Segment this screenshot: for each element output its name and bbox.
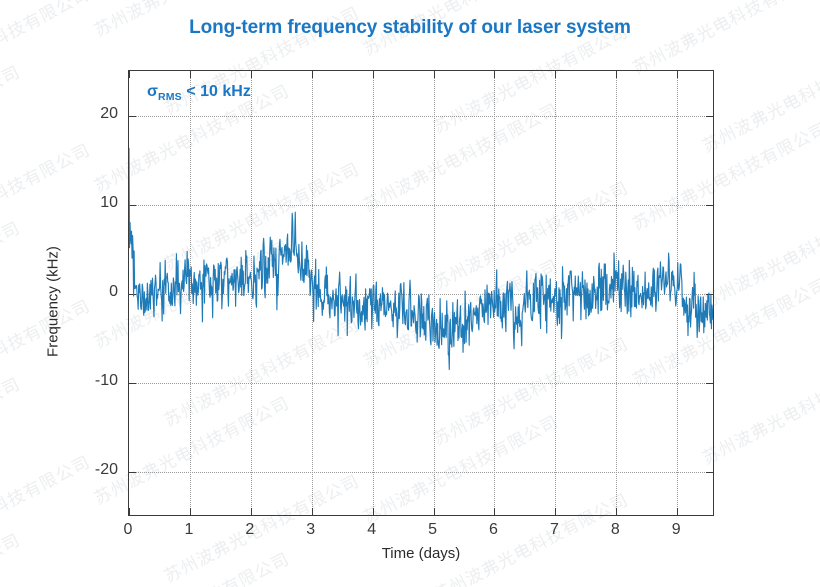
y-tick-label: 20	[68, 105, 118, 123]
data-series-line	[129, 71, 714, 516]
y-tick-label: -20	[68, 461, 118, 479]
x-tick-label: 0	[108, 521, 148, 539]
y-tick-label: 10	[68, 194, 118, 212]
sigma-subscript: RMS	[158, 91, 182, 103]
x-tick-label: 7	[534, 521, 574, 539]
chart-title: Long-term frequency stability of our las…	[0, 17, 820, 39]
chart-figure: Long-term frequency stability of our las…	[0, 0, 820, 587]
frequency-trace-path	[129, 148, 714, 370]
x-tick-label: 5	[413, 521, 453, 539]
x-tick-label: 9	[656, 521, 696, 539]
y-tick-label: 0	[68, 283, 118, 301]
x-tick-label: 4	[352, 521, 392, 539]
x-axis-label: Time (days)	[128, 545, 714, 562]
x-tick-label: 8	[595, 521, 635, 539]
x-tick-label: 6	[473, 521, 513, 539]
x-tick-label: 2	[230, 521, 270, 539]
rms-annotation: σRMS < 10 kHz	[147, 83, 251, 103]
x-tick-label: 3	[291, 521, 331, 539]
x-tick-label: 1	[169, 521, 209, 539]
y-tick-label: -10	[68, 372, 118, 390]
plot-area: σRMS < 10 kHz	[128, 70, 714, 516]
sigma-symbol: σ	[147, 83, 158, 100]
y-axis-label: Frequency (kHz)	[45, 202, 62, 402]
sigma-value-text: < 10 kHz	[182, 83, 251, 100]
